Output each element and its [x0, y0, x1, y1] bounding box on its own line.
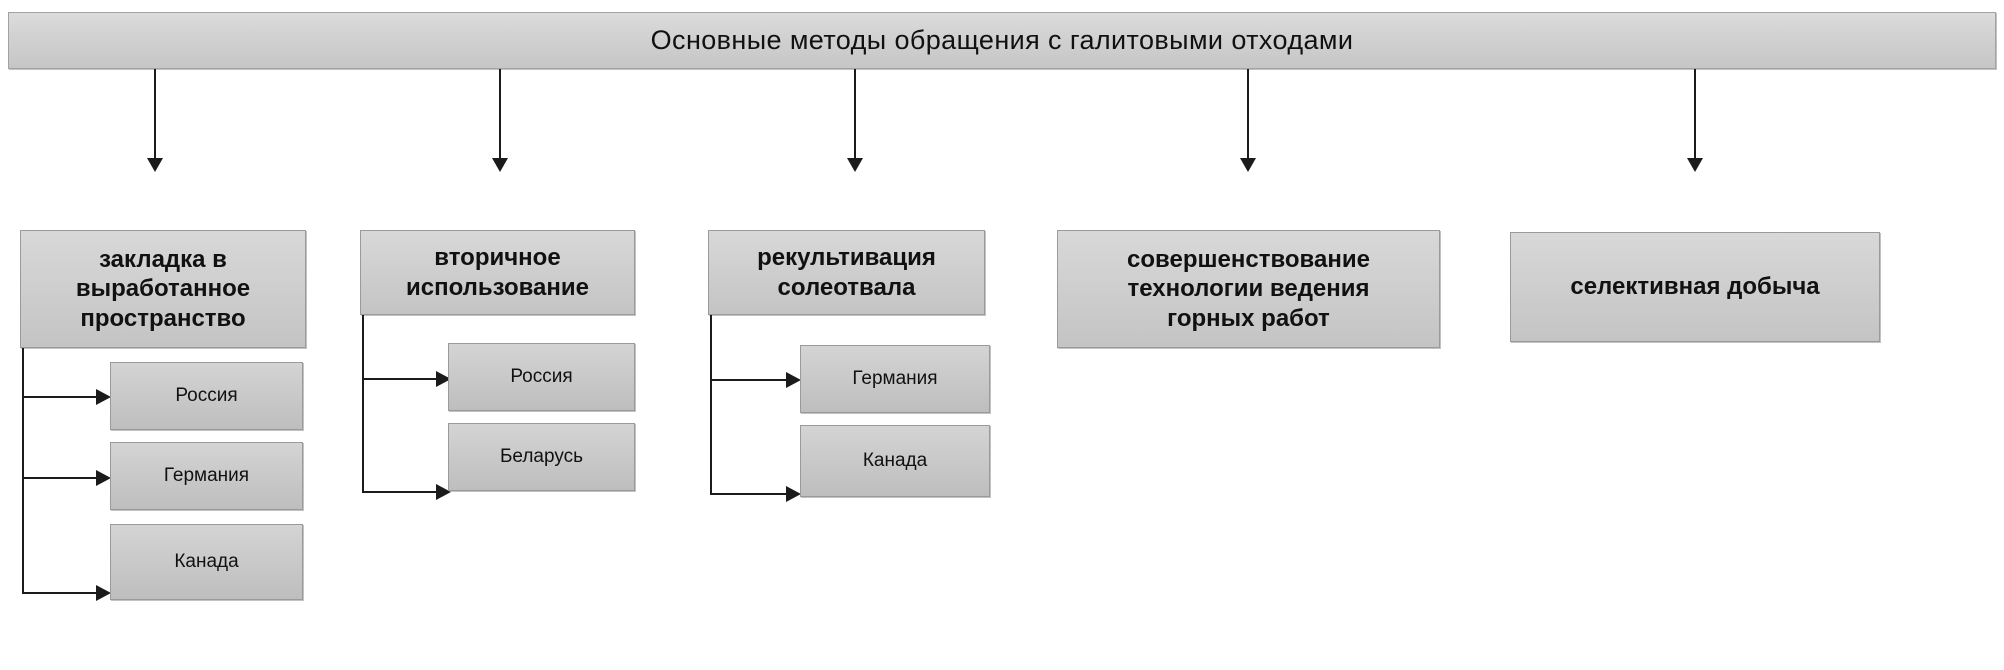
- leaf-node-vtorichnoe-rossiya-label: Россия: [510, 365, 572, 388]
- connector-branch-1-child-3: [22, 592, 98, 594]
- branch-node-zakladka: закладка в выработанное пространство: [20, 230, 306, 348]
- leaf-node-rekultivaciya-germaniya-label: Германия: [852, 367, 937, 390]
- connector-root-to-branch-1: [154, 69, 156, 161]
- root-node-label: Основные методы обращения с галитовыми о…: [651, 24, 1354, 57]
- arrowhead-branch-1-child-1: [96, 389, 111, 405]
- connector-root-to-branch-4: [1247, 69, 1249, 161]
- leaf-node-rekultivaciya-kanada: Канада: [800, 425, 990, 497]
- branch-node-vtorichnoe-label: вторичное использование: [406, 243, 589, 302]
- leaf-node-zakladka-kanada: Канада: [110, 524, 303, 600]
- arrowhead-branch-3-child-2: [786, 486, 801, 502]
- connector-branch-3-child-2: [710, 493, 788, 495]
- connector-root-to-branch-5: [1694, 69, 1696, 161]
- arrowhead-root-to-branch-1: [147, 158, 163, 172]
- connector-branch-2-child-2: [362, 491, 438, 493]
- arrowhead-root-to-branch-5: [1687, 158, 1703, 172]
- leaf-node-vtorichnoe-belarus: Беларусь: [448, 423, 635, 491]
- branch-node-selektivnaya-label: селективная добыча: [1570, 272, 1819, 301]
- branch-node-selektivnaya: селективная добыча: [1510, 232, 1880, 342]
- connector-branch-2-child-1: [362, 378, 438, 380]
- arrowhead-root-to-branch-3: [847, 158, 863, 172]
- diagram-canvas: Основные методы обращения с галитовыми о…: [0, 0, 2004, 670]
- connector-root-to-branch-2: [499, 69, 501, 161]
- arrowhead-root-to-branch-4: [1240, 158, 1256, 172]
- arrowhead-branch-1-child-3: [96, 585, 111, 601]
- arrowhead-branch-1-child-2: [96, 470, 111, 486]
- leaf-node-zakladka-kanada-label: Канада: [174, 550, 238, 573]
- connector-spine-branch-2: [362, 315, 364, 493]
- leaf-node-zakladka-rossiya-label: Россия: [175, 384, 237, 407]
- connector-branch-1-child-2: [22, 477, 98, 479]
- leaf-node-rekultivaciya-kanada-label: Канада: [863, 449, 927, 472]
- branch-node-vtorichnoe: вторичное использование: [360, 230, 635, 315]
- branch-node-rekultivaciya: рекультивация солеотвала: [708, 230, 985, 315]
- connector-spine-branch-3: [710, 315, 712, 495]
- leaf-node-vtorichnoe-rossiya: Россия: [448, 343, 635, 411]
- connector-root-to-branch-3: [854, 69, 856, 161]
- branch-node-sovershenstvovanie: совершенствование технологии ведения гор…: [1057, 230, 1440, 348]
- branch-node-zakladka-label: закладка в выработанное пространство: [76, 245, 250, 333]
- leaf-node-vtorichnoe-belarus-label: Беларусь: [500, 445, 583, 468]
- connector-branch-1-child-1: [22, 396, 98, 398]
- connector-spine-branch-1: [22, 348, 24, 594]
- leaf-node-rekultivaciya-germaniya: Германия: [800, 345, 990, 413]
- leaf-node-zakladka-germaniya-label: Германия: [164, 464, 249, 487]
- leaf-node-zakladka-germaniya: Германия: [110, 442, 303, 510]
- root-node-box: Основные методы обращения с галитовыми о…: [8, 12, 1996, 69]
- connector-branch-3-child-1: [710, 379, 788, 381]
- arrowhead-branch-3-child-1: [786, 372, 801, 388]
- branch-node-rekultivaciya-label: рекультивация солеотвала: [757, 243, 936, 302]
- leaf-node-zakladka-rossiya: Россия: [110, 362, 303, 430]
- branch-node-sovershenstvovanie-label: совершенствование технологии ведения гор…: [1127, 245, 1370, 333]
- arrowhead-root-to-branch-2: [492, 158, 508, 172]
